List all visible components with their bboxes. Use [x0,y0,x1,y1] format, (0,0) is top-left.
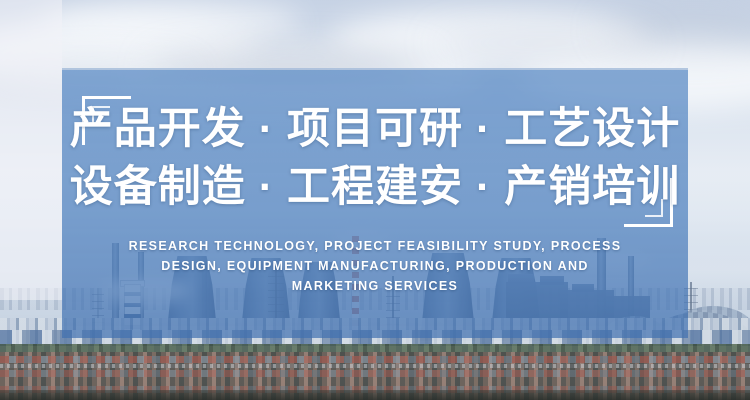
headline-block: 产品开发 · 项目可研 · 工艺设计 设备制造 · 工程建安 · 产销培训 [62,100,688,216]
rail-line [0,364,750,368]
subheadline-block: RESEARCH TECHNOLOGY, PROJECT FEASIBILITY… [62,236,688,296]
rooftop-row [0,356,750,363]
cloud [40,0,300,46]
subheadline-line-2: DESIGN, EQUIPMENT MANUFACTURING, PRODUCT… [62,256,688,276]
rooftop-row [0,370,750,377]
headline-line-1: 产品开发 · 项目可研 · 工艺设计 [62,100,688,158]
foreground-shadow [0,390,750,400]
headline-line-2: 设备制造 · 工程建安 · 产销培训 [62,158,688,216]
hero-banner: 产品开发 · 项目可研 · 工艺设计 设备制造 · 工程建安 · 产销培训 RE… [0,0,750,400]
subheadline-line-3: MARKETING SERVICES [62,276,688,296]
subheadline-line-1: RESEARCH TECHNOLOGY, PROJECT FEASIBILITY… [62,236,688,256]
